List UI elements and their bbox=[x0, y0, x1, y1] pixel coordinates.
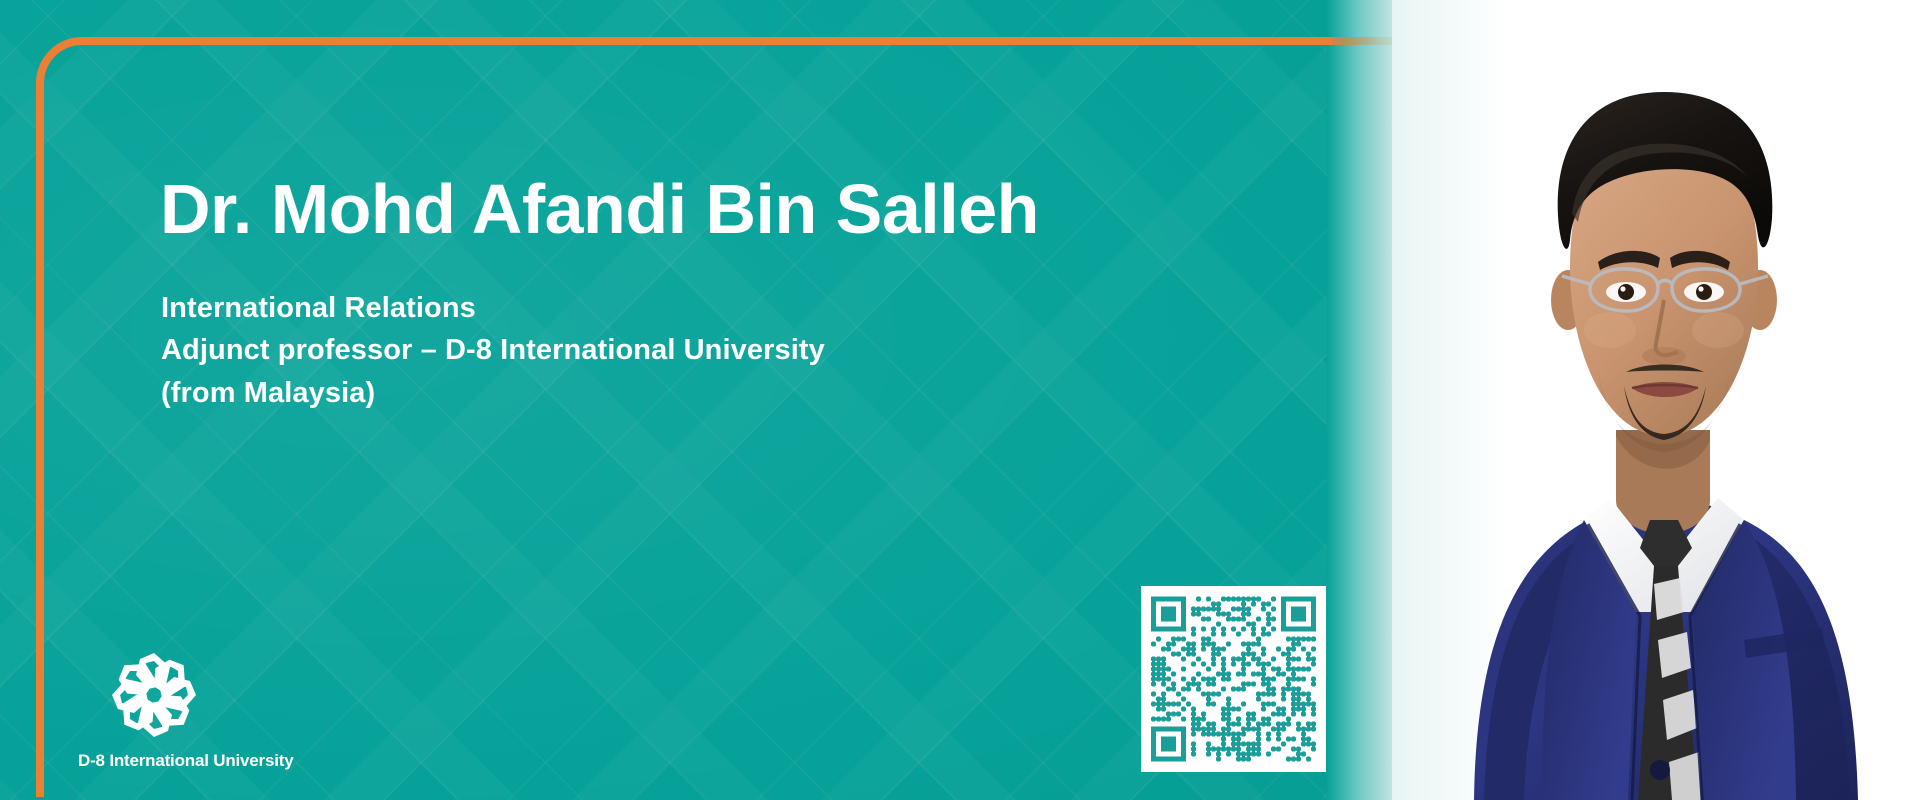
qr-code-matrix bbox=[1151, 596, 1316, 762]
university-logo-caption: D-8 International University bbox=[78, 751, 298, 771]
speaker-origin: (from Malaysia) bbox=[161, 372, 825, 414]
speaker-portrait-illustration bbox=[1392, 0, 1920, 800]
speaker-field: International Relations bbox=[161, 287, 825, 329]
speaker-name: Dr. Mohd Afandi Bin Salleh bbox=[160, 172, 1039, 246]
speaker-role: Adjunct professor – D-8 International Un… bbox=[161, 329, 825, 371]
speaker-details: International Relations Adjunct professo… bbox=[161, 287, 825, 414]
eight-point-star-icon bbox=[104, 645, 204, 745]
university-logo: D-8 International University bbox=[78, 645, 298, 771]
orange-frame-extension bbox=[1270, 37, 1332, 45]
qr-code[interactable] bbox=[1141, 586, 1326, 772]
speaker-portrait bbox=[1392, 0, 1920, 800]
speaker-banner: Dr. Mohd Afandi Bin Salleh International… bbox=[0, 0, 1920, 800]
